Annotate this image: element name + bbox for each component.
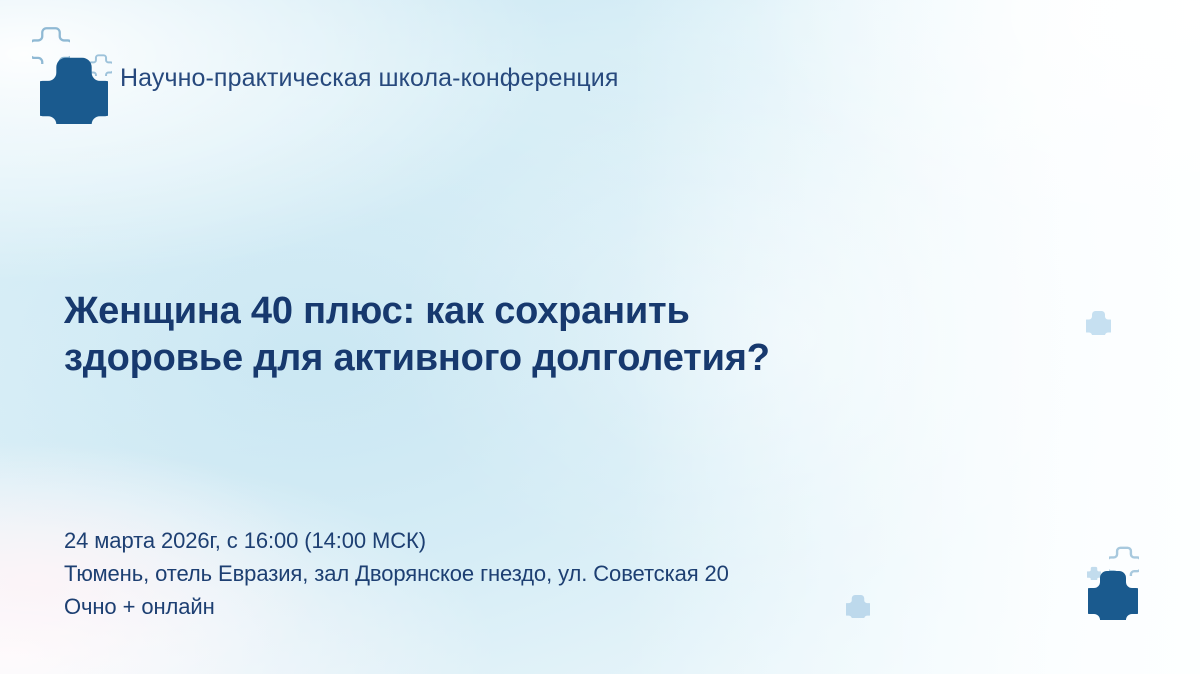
page-title-line-1: Женщина 40 плюс: как сохранить — [64, 288, 864, 335]
conference-subtitle: Научно-практическая школа-конференция — [120, 64, 619, 93]
event-venue: Тюмень, отель Евразия, зал Дворянское гн… — [64, 557, 729, 590]
decorative-cross-bottom-right-main-icon — [1088, 568, 1138, 620]
conference-poster: Научно-практическая школа-конференция Же… — [0, 0, 1200, 674]
poster-header: Научно-практическая школа-конференция — [0, 0, 1200, 150]
page-title: Женщина 40 плюс: как сохранить здоровье … — [64, 288, 864, 382]
decorative-cross-mid-right-icon — [1086, 310, 1111, 335]
event-format: Очно + онлайн — [64, 590, 729, 623]
event-details: 24 марта 2026г, с 16:00 (14:00 МСК) Тюме… — [64, 524, 729, 623]
page-title-line-2: здоровье для активного долголетия? — [64, 335, 864, 382]
conference-logo — [28, 26, 116, 130]
event-datetime: 24 марта 2026г, с 16:00 (14:00 МСК) — [64, 524, 729, 557]
plus-cross-icon — [40, 54, 108, 124]
decorative-cross-bottom-center-icon — [846, 594, 870, 618]
